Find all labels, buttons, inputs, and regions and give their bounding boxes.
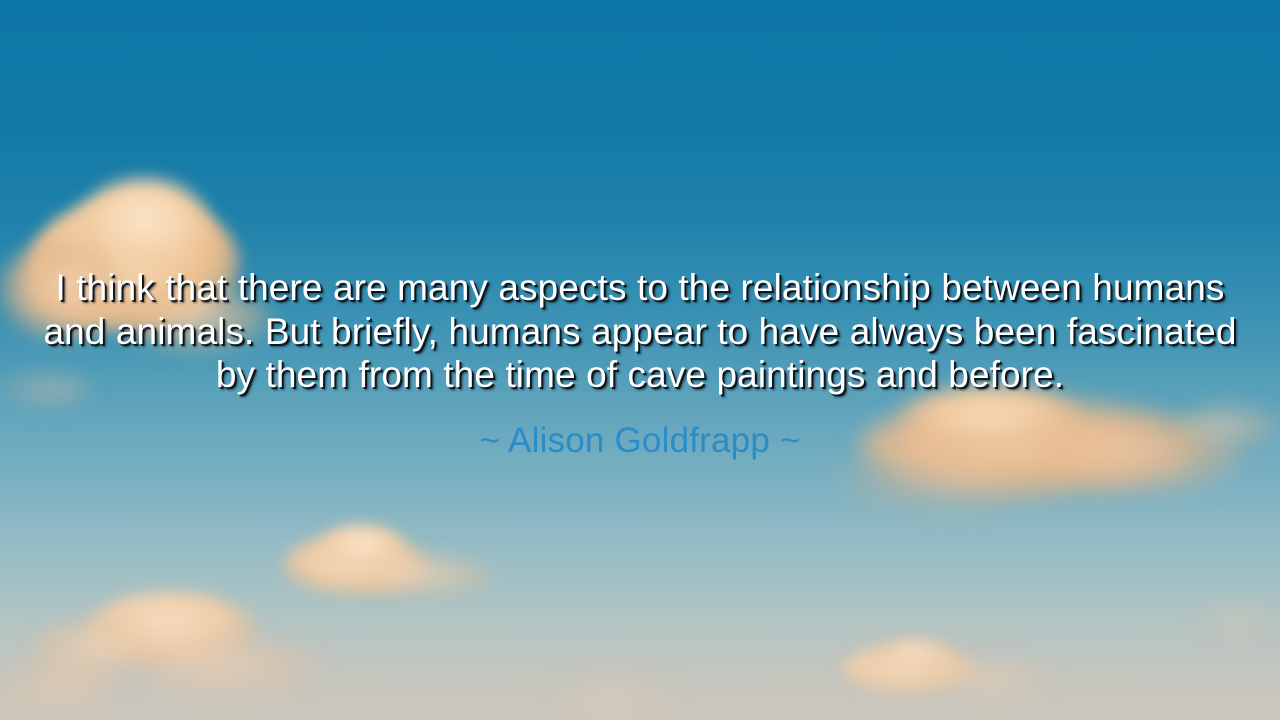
text-overlay: I think that there are many aspects to t… [0, 0, 1280, 720]
quote-attribution: ~ Alison Goldfrapp ~ [479, 421, 800, 461]
quote-text: I think that there are many aspects to t… [32, 266, 1248, 397]
quote-image-canvas: I think that there are many aspects to t… [0, 0, 1280, 720]
